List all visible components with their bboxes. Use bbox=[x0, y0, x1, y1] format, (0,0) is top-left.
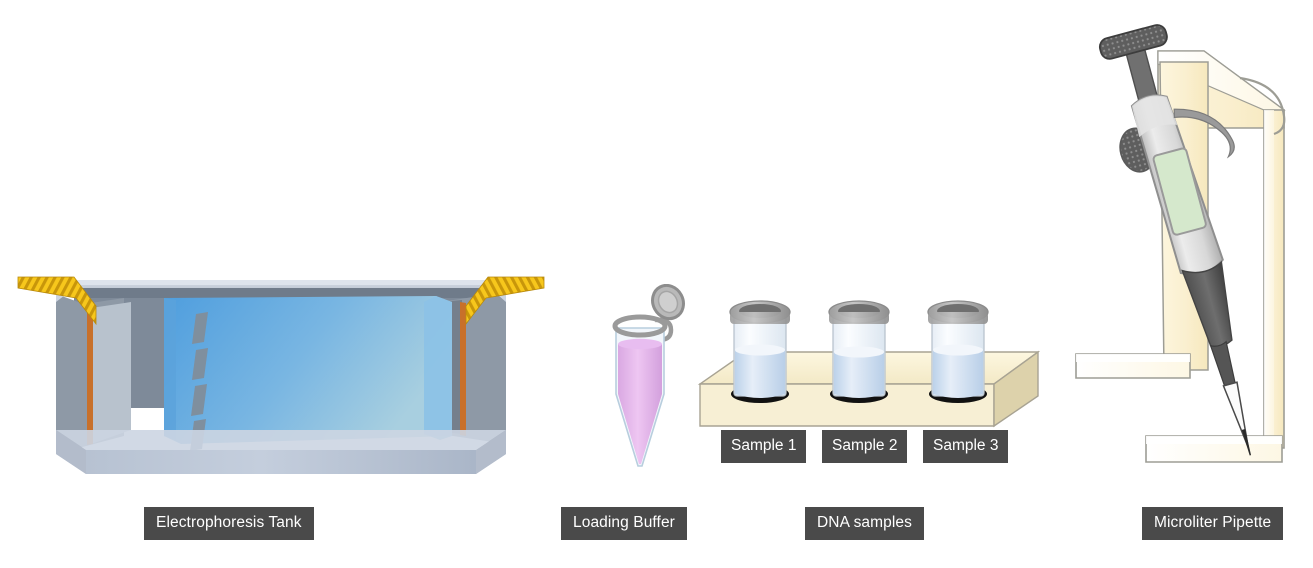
left-electrode bbox=[87, 307, 93, 445]
caption-loading-buffer: Loading Buffer bbox=[561, 507, 687, 540]
sample-vial-1 bbox=[730, 301, 790, 403]
vial-label-sample-3: Sample 3 bbox=[923, 430, 1008, 463]
sample-vial-3 bbox=[928, 301, 988, 403]
tube-liquid bbox=[618, 344, 662, 464]
right-electrode bbox=[460, 302, 466, 436]
electrophoresis-tank-figure bbox=[16, 258, 546, 488]
electrophoresis-tank-svg bbox=[16, 258, 546, 488]
liquid-surface bbox=[618, 339, 662, 349]
sample-vial-2 bbox=[829, 301, 889, 403]
diagram-canvas: Electrophoresis Tank Loading Buffer DNA … bbox=[0, 0, 1313, 568]
microliter-pipette-svg bbox=[1068, 18, 1300, 476]
loading-buffer-svg bbox=[594, 284, 694, 480]
microliter-pipette-figure bbox=[1068, 18, 1300, 476]
gel-slab bbox=[164, 296, 452, 444]
tank-left-buffer-face bbox=[91, 302, 131, 444]
vial-label-sample-1: Sample 1 bbox=[721, 430, 806, 463]
caption-dna-samples: DNA samples bbox=[805, 507, 924, 540]
loading-buffer-figure bbox=[594, 284, 694, 480]
caption-electrophoresis-tank: Electrophoresis Tank bbox=[144, 507, 314, 540]
vial-label-sample-2: Sample 2 bbox=[822, 430, 907, 463]
tank-front-wall bbox=[56, 430, 506, 474]
caption-microliter-pipette: Microliter Pipette bbox=[1142, 507, 1283, 540]
